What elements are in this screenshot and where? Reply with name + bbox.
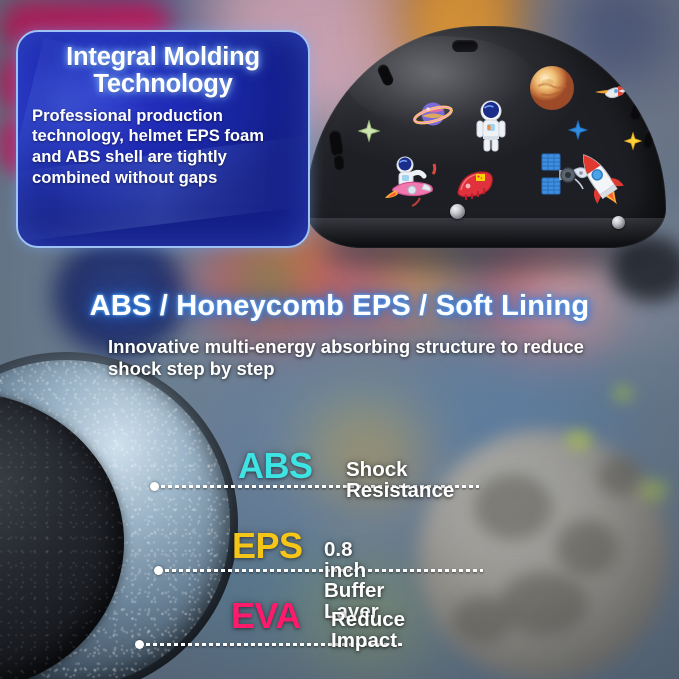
- product-infographic: Integral Molding Technology Professional…: [0, 0, 679, 679]
- section-headline: ABS / Honeycomb EPS / Soft Lining: [0, 290, 679, 323]
- leader-line-eps: [154, 566, 484, 575]
- helmet-cutaway-photo: [0, 352, 264, 679]
- helmet-product-image: [306, 26, 672, 276]
- layer-desc-eva: Reduce Impact: [331, 610, 405, 651]
- leader-dot-icon: [150, 482, 159, 491]
- callout-body: Professional production technology, helm…: [32, 106, 292, 190]
- helmet-shell: [306, 26, 666, 248]
- leader-dot-icon: [135, 640, 144, 649]
- leader-dot-icon: [154, 566, 163, 575]
- layer-desc-abs: Shock Resistance: [346, 460, 454, 501]
- integral-molding-callout: Integral Molding Technology Professional…: [16, 30, 310, 248]
- callout-title: Integral Molding Technology: [32, 44, 294, 99]
- layer-label-eps: EPS: [232, 528, 303, 564]
- layer-label-abs: ABS: [238, 448, 313, 484]
- layer-label-eva: EVA: [231, 598, 301, 634]
- section-subheadline: Innovative multi-energy absorbing struct…: [108, 336, 608, 380]
